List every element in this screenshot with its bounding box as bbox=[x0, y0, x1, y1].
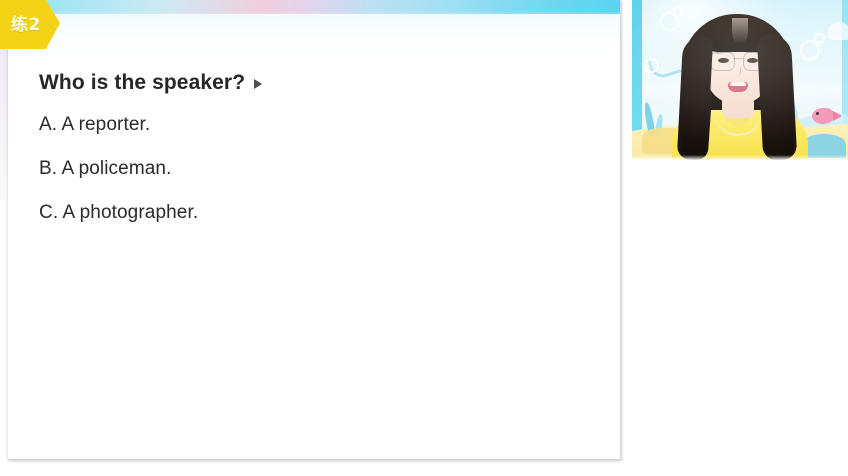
presenter-teeth bbox=[730, 82, 746, 86]
play-triangle-icon[interactable] bbox=[254, 79, 262, 89]
slide-content: Who is the speaker? A. A reporter. B. A … bbox=[8, 0, 621, 460]
answer-option-b[interactable]: B. A policeman. bbox=[39, 157, 579, 181]
webcam-bottom-fade bbox=[632, 155, 848, 160]
teacher-webcam-video[interactable] bbox=[632, 0, 848, 160]
question-title: Who is the speaker? bbox=[39, 70, 245, 95]
answer-option-c[interactable]: C. A photographer. bbox=[39, 201, 579, 225]
screen-canvas: Who is the speaker? A. A reporter. B. A … bbox=[0, 0, 848, 476]
slide-panel: Who is the speaker? A. A reporter. B. A … bbox=[8, 0, 621, 460]
glasses-bridge bbox=[733, 58, 745, 59]
presenter-hair-front-right bbox=[759, 85, 794, 160]
presenter-hair-front-left bbox=[682, 87, 713, 160]
glasses-lens-left bbox=[710, 52, 735, 71]
presenter-figure bbox=[632, 0, 848, 160]
presenter-fringe-part bbox=[732, 18, 748, 44]
answer-options-list: A. A reporter. B. A policeman. C. A phot… bbox=[39, 113, 579, 244]
question-row: Who is the speaker? bbox=[39, 70, 262, 95]
answer-option-a[interactable]: A. A reporter. bbox=[39, 113, 579, 137]
exercise-badge-label: 练2 bbox=[0, 17, 41, 34]
